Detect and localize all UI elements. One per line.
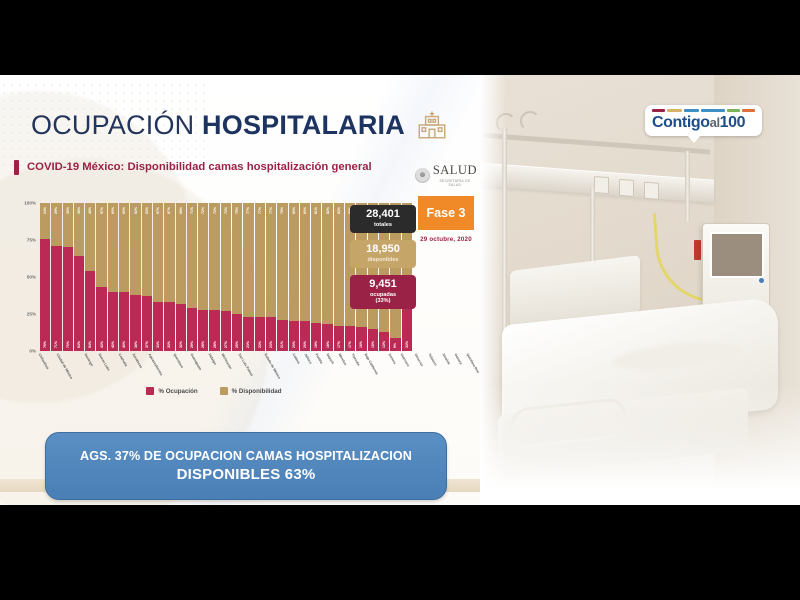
bar-label-disponibilidad: 67% (156, 207, 160, 214)
bar-segment-disponibilidad: 82% (322, 203, 332, 324)
stat-card-ocupadas: 9,451 ocupadas (33%) (350, 275, 416, 310)
stat-ocupadas-number: 9,451 (354, 278, 412, 290)
bar-label-disponibilidad: 82% (326, 207, 330, 214)
bar-segment-disponibilidad: 60% (108, 203, 118, 292)
bar-label-ocupacion: 43% (100, 341, 104, 348)
bar-segment-ocupacion: 76% (40, 239, 50, 351)
bar-segment-ocupacion: 21% (277, 320, 287, 351)
contigo-al-100-logo: Contigoal100 (645, 105, 762, 136)
chart-bar: 63%37% (142, 203, 152, 351)
y-axis-tick: 100% (24, 201, 36, 206)
bar-segment-disponibilidad: 24% (40, 203, 50, 239)
bar-segment-disponibilidad: 80% (289, 203, 299, 321)
bar-segment-ocupacion: 32% (176, 304, 186, 351)
summary-banner-line2: DISPONIBLES 63% (177, 466, 316, 483)
bar-segment-ocupacion: 16% (356, 327, 366, 351)
bar-label-ocupacion: 25% (235, 341, 239, 348)
bar-label-ocupacion: 40% (111, 341, 115, 348)
bar-segment-ocupacion: 71% (51, 246, 61, 351)
logo-stripe (742, 109, 755, 112)
chart-stat-cards: 28,401 totales 18,950 disponibles 9,451 … (350, 205, 416, 316)
bar-label-ocupacion: 33% (167, 341, 171, 348)
bar-segment-ocupacion: 54% (85, 271, 95, 351)
stat-disponibles-number: 18,950 (354, 243, 412, 255)
salud-logo-row: SALUD SECRETARÍA DE SALUD (415, 163, 477, 187)
bar-segment-ocupacion: 25% (232, 314, 242, 351)
bar-label-ocupacion: 76% (43, 341, 47, 348)
bar-segment-disponibilidad: 72% (209, 203, 219, 310)
bar-label-ocupacion: 28% (201, 341, 205, 348)
bar-label-ocupacion: 71% (54, 341, 58, 348)
hospital-room-photo: Contigoal100 (480, 75, 800, 505)
y-axis-tick: 75% (27, 238, 36, 243)
presentation-slide: OCUPACIÓN HOSPITALARIA COVID-19 (0, 75, 480, 505)
chart-bar: 82%18% (322, 203, 332, 351)
bar-segment-disponibilidad: 71% (187, 203, 197, 308)
bar-label-ocupacion: 40% (122, 341, 126, 348)
bar-segment-disponibilidad: 81% (311, 203, 321, 323)
stat-totales-caption: totales (354, 222, 412, 229)
stat-card-disponibles: 18,950 disponibles (350, 240, 416, 268)
logo-stripe (727, 109, 740, 112)
title-word-bold: HOSPITALARIA (202, 110, 405, 140)
bar-segment-disponibilidad: 73% (221, 203, 231, 311)
legend-label-ocupacion: % Ocupación (158, 388, 197, 395)
bed-sheet-fold (612, 336, 742, 376)
bar-label-disponibilidad: 24% (43, 207, 47, 214)
slide-date: 29 octubre, 2020 (415, 236, 477, 243)
bar-label-ocupacion: 27% (224, 341, 228, 348)
salud-logo-subtext: SECRETARÍA DE SALUD (433, 179, 477, 187)
bar-label-ocupacion: 17% (348, 341, 352, 348)
bar-label-disponibilidad: 72% (213, 207, 217, 214)
chart-bar: 77%23% (243, 203, 253, 351)
bar-label-disponibilidad: 29% (54, 207, 58, 214)
bar-segment-ocupacion: 38% (130, 295, 140, 351)
bar-label-disponibilidad: 80% (292, 207, 296, 214)
bar-label-ocupacion: 28% (213, 341, 217, 348)
bar-label-ocupacion: 23% (269, 341, 273, 348)
bar-segment-ocupacion: 18% (322, 324, 332, 351)
bar-segment-ocupacion: 13% (379, 332, 389, 351)
chart-bar: 71%29% (187, 203, 197, 351)
chart-bar: 77%23% (266, 203, 276, 351)
bar-segment-ocupacion: 43% (96, 287, 106, 351)
bar-segment-disponibilidad: 62% (130, 203, 140, 295)
bar-segment-disponibilidad: 79% (277, 203, 287, 320)
hospital-building-icon (415, 108, 449, 142)
bar-label-disponibilidad: 62% (134, 207, 138, 214)
bar-label-ocupacion: 19% (314, 341, 318, 348)
chart-bar: 75%25% (232, 203, 242, 351)
mexico-eagle-seal-icon (415, 168, 430, 183)
bar-label-ocupacion: 33% (156, 341, 160, 348)
ventilator-power-indicator (759, 278, 764, 283)
bar-segment-ocupacion: 17% (334, 326, 344, 351)
summary-banner: AGS. 37% DE OCUPACION CAMAS HOSPITALIZAC… (45, 432, 447, 500)
chart-bar: 80%20% (300, 203, 310, 351)
bar-label-ocupacion: 16% (359, 341, 363, 348)
bar-label-disponibilidad: 63% (145, 207, 149, 214)
bar-label-ocupacion: 32% (179, 341, 183, 348)
bar-label-ocupacion: 54% (88, 341, 92, 348)
bar-label-ocupacion: 33% (405, 341, 409, 348)
bar-label-ocupacion: 18% (326, 341, 330, 348)
logo-text-al: al (710, 115, 720, 130)
bar-label-disponibilidad: 77% (258, 207, 262, 214)
bar-label-ocupacion: 13% (382, 341, 386, 348)
bar-label-disponibilidad: 75% (235, 207, 239, 214)
bar-segment-ocupacion: 28% (198, 310, 208, 351)
logo-stripe (701, 109, 725, 112)
bar-segment-ocupacion: 27% (221, 311, 231, 351)
wall-outlet-2 (619, 179, 634, 197)
bar-label-ocupacion: 38% (134, 341, 138, 348)
bar-label-disponibilidad: 68% (179, 207, 183, 214)
logo-text-100: 100 (720, 114, 746, 131)
chart-bar: 80%20% (289, 203, 299, 351)
bar-label-ocupacion: 20% (292, 341, 296, 348)
chart-bar: 72%28% (209, 203, 219, 351)
bar-segment-disponibilidad: 72% (198, 203, 208, 310)
wall-outlet-1 (594, 176, 609, 194)
logo-text-contigo: Contigo (652, 114, 710, 131)
bar-segment-disponibilidad: 80% (300, 203, 310, 321)
bar-label-disponibilidad: 60% (122, 207, 126, 214)
summary-banner-line1: AGS. 37% DE OCUPACION CAMAS HOSPITALIZAC… (80, 449, 412, 463)
bar-segment-disponibilidad: 30% (63, 203, 73, 247)
bar-segment-disponibilidad: 67% (164, 203, 174, 302)
bar-label-ocupacion: 29% (190, 341, 194, 348)
slide-subtitle-block: COVID-19 México: Disponibilidad camas ho… (14, 160, 414, 175)
salud-logo-text: SALUD (433, 163, 477, 178)
chart-bar: 72%28% (198, 203, 208, 351)
bar-label-disponibilidad: 80% (303, 207, 307, 214)
chart-bar: 62%38% (130, 203, 140, 351)
y-axis-tick: 25% (27, 312, 36, 317)
bar-label-disponibilidad: 57% (100, 207, 104, 214)
photo-bottom-fade (480, 385, 800, 505)
bar-label-ocupacion: 21% (280, 341, 284, 348)
bar-segment-disponibilidad: 68% (176, 203, 186, 304)
bar-segment-disponibilidad: 57% (96, 203, 106, 287)
bar-segment-ocupacion: 28% (209, 310, 219, 351)
bar-segment-ocupacion: 19% (311, 323, 321, 351)
chart-bar: 46%54% (85, 203, 95, 351)
chart-plot-area: 0%25%50%75%100% 24%76%29%71%30%70%36%64%… (14, 203, 414, 351)
chart-bar: 77%23% (255, 203, 265, 351)
bar-segment-ocupacion: 23% (243, 317, 253, 351)
bar-segment-ocupacion: 33% (153, 302, 163, 351)
hospital-occupancy-chart: 0%25%50%75%100% 24%76%29%71%30%70%36%64%… (14, 203, 414, 465)
logo-speech-bubble: Contigoal100 (645, 105, 762, 136)
bar-segment-ocupacion: 40% (108, 292, 118, 351)
bar-label-disponibilidad: 71% (190, 207, 194, 214)
bar-label-disponibilidad: 46% (88, 207, 92, 214)
bar-segment-disponibilidad: 29% (51, 203, 61, 246)
y-axis-tick: 50% (27, 275, 36, 280)
bar-segment-disponibilidad: 83% (334, 203, 344, 326)
bar-label-ocupacion: 9% (393, 343, 397, 348)
bar-segment-ocupacion: 64% (74, 256, 84, 351)
slide-header: OCUPACIÓN HOSPITALARIA (0, 97, 480, 153)
bar-segment-disponibilidad: 46% (85, 203, 95, 271)
logo-stripe (684, 109, 699, 112)
chart-bar: 73%27% (221, 203, 231, 351)
emergency-switch (694, 240, 701, 260)
bar-segment-disponibilidad: 63% (142, 203, 152, 296)
bar-label-ocupacion: 23% (258, 341, 262, 348)
bar-segment-ocupacion: 20% (289, 321, 299, 351)
stat-disponibles-caption: disponibles (354, 257, 412, 264)
bar-label-disponibilidad: 77% (246, 207, 250, 214)
bar-segment-ocupacion: 15% (368, 329, 378, 351)
bar-segment-disponibilidad: 77% (266, 203, 276, 317)
stat-ocupadas-caption: ocupadas (33%) (354, 292, 412, 305)
bar-segment-disponibilidad: 77% (255, 203, 265, 317)
bar-label-disponibilidad: 72% (201, 207, 205, 214)
bar-segment-ocupacion: 70% (63, 247, 73, 351)
bar-label-disponibilidad: 30% (66, 207, 70, 214)
chart-bar: 29%71% (51, 203, 61, 351)
bar-label-ocupacion: 37% (145, 341, 149, 348)
bar-label-disponibilidad: 81% (314, 207, 318, 214)
chart-bar: 57%43% (96, 203, 106, 351)
bar-label-disponibilidad: 83% (337, 207, 341, 214)
bar-label-disponibilidad: 73% (224, 207, 228, 214)
chart-y-axis: 0%25%50%75%100% (14, 203, 38, 351)
bar-label-disponibilidad: 60% (111, 207, 115, 214)
bar-label-ocupacion: 70% (66, 341, 70, 348)
subtitle-accent-bar (14, 160, 19, 175)
chart-bar: 81%19% (311, 203, 321, 351)
ventilator-screen (710, 232, 764, 278)
bar-segment-disponibilidad: 60% (119, 203, 129, 292)
bar-segment-ocupacion: 40% (119, 292, 129, 351)
bar-label-disponibilidad: 67% (167, 207, 171, 214)
video-frame: OCUPACIÓN HOSPITALARIA COVID-19 (0, 75, 800, 505)
bar-segment-ocupacion: 9% (390, 338, 400, 351)
chart-bar: 67%33% (153, 203, 163, 351)
chart-x-axis: ChihuahuaCiudad de MéxicoDurangoNuevo Le… (38, 351, 414, 385)
bar-segment-disponibilidad: 67% (153, 203, 163, 302)
bar-segment-ocupacion: 23% (255, 317, 265, 351)
bar-segment-ocupacion: 17% (345, 326, 355, 351)
chart-bar: 83%17% (334, 203, 344, 351)
chart-bar: 36%64% (74, 203, 84, 351)
bar-label-disponibilidad: 79% (280, 207, 284, 214)
y-axis-tick: 0% (29, 349, 36, 354)
chart-bar: 79%21% (277, 203, 287, 351)
title-word-light: OCUPACIÓN (31, 110, 194, 140)
photo-left-fade (480, 75, 506, 505)
logo-color-stripes (652, 109, 755, 112)
chart-bar: 68%32% (176, 203, 186, 351)
legend-swatch-ocupacion (146, 387, 154, 395)
logo-stripe (667, 109, 682, 112)
bar-segment-ocupacion: 33% (164, 302, 174, 351)
chart-bar: 24%76% (40, 203, 50, 351)
bar-label-ocupacion: 20% (303, 341, 307, 348)
bar-segment-disponibilidad: 75% (232, 203, 242, 314)
bar-segment-ocupacion: 37% (142, 296, 152, 351)
iv-hook-2 (520, 111, 540, 131)
bar-label-ocupacion: 64% (77, 341, 81, 348)
fase-badge: Fase 3 (418, 196, 474, 230)
slide-subtitle: COVID-19 México: Disponibilidad camas ho… (27, 160, 372, 175)
bar-segment-disponibilidad: 36% (74, 203, 84, 256)
bar-segment-ocupacion: 20% (300, 321, 310, 351)
chart-bar: 30%70% (63, 203, 73, 351)
bar-label-ocupacion: 17% (337, 341, 341, 348)
chart-bar: 60%40% (119, 203, 129, 351)
bar-label-disponibilidad: 77% (269, 207, 273, 214)
stat-ocupadas-caption-line1: ocupadas (370, 292, 396, 298)
bar-label-disponibilidad: 36% (77, 207, 81, 214)
logo-stripe (652, 109, 665, 112)
stat-ocupadas-caption-line2: (33%) (376, 298, 391, 304)
bar-segment-disponibilidad: 77% (243, 203, 253, 317)
chart-bar: 67%33% (164, 203, 174, 351)
wall-outlet-3 (644, 182, 659, 200)
bar-label-ocupacion: 15% (371, 341, 375, 348)
video-screen: OCUPACIÓN HOSPITALARIA COVID-19 (0, 0, 800, 600)
bar-segment-ocupacion: 29% (187, 308, 197, 351)
stat-totales-number: 28,401 (354, 208, 412, 220)
chart-bar: 60%40% (108, 203, 118, 351)
logo-text: Contigoal100 (652, 115, 755, 131)
legend-item-ocupacion: % Ocupación (146, 387, 197, 395)
bar-segment-ocupacion: 23% (266, 317, 276, 351)
stat-card-totales: 28,401 totales (350, 205, 416, 233)
salud-logo-block: SALUD SECRETARÍA DE SALUD Fase 3 29 octu… (415, 163, 477, 243)
chart-legend: % Ocupación % Disponibilidad (14, 387, 414, 395)
bar-label-ocupacion: 23% (246, 341, 250, 348)
page-title: OCUPACIÓN HOSPITALARIA (31, 110, 405, 141)
